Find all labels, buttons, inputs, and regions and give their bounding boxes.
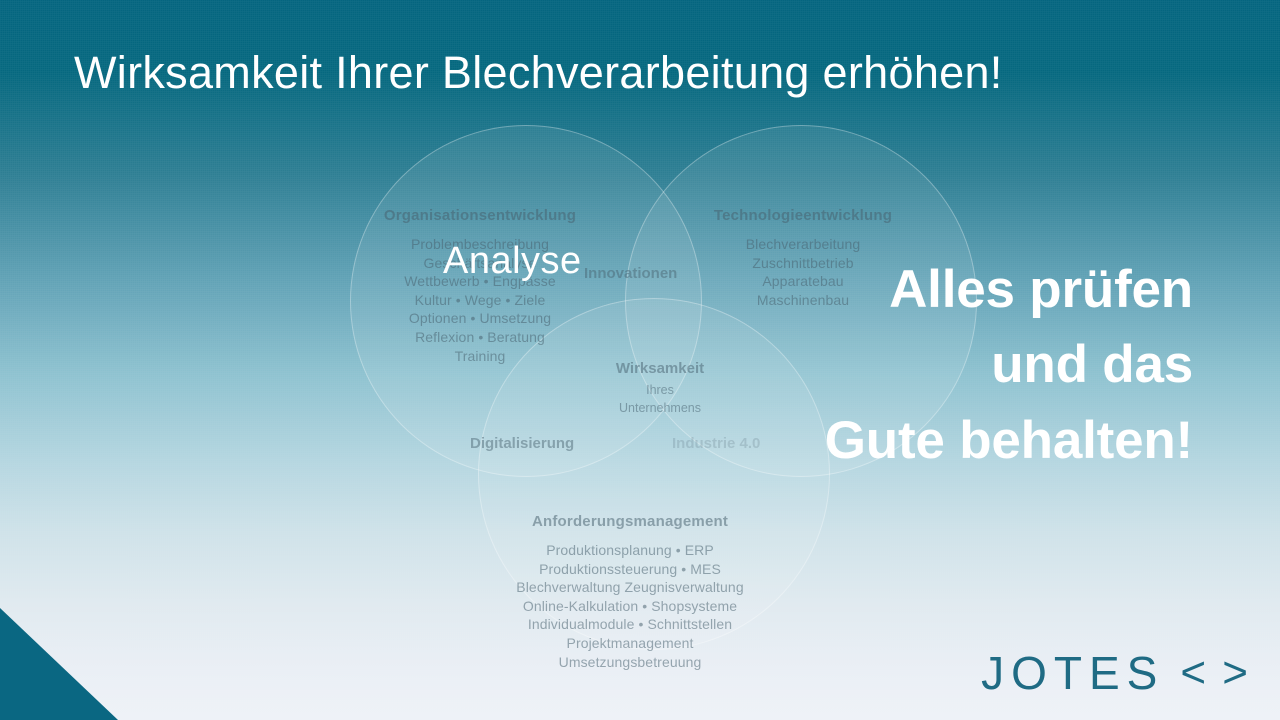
venn-item-org-3: Kultur • Wege • Ziele (330, 291, 630, 310)
venn-heading-anforderungsmanagement: Anforderungsmanagement (450, 512, 810, 532)
venn-item-anf-1: Produktionssteuerung • MES (450, 560, 810, 579)
venn-item-anf-0: Produktionsplanung • ERP (450, 541, 810, 560)
analyse-overlay-label: Analyse (443, 240, 582, 283)
venn-group-anforderungsmanagement: Anforderungsmanagement Produktionsplanun… (450, 512, 810, 671)
headline-line-1: Alles prüfen (673, 252, 1193, 327)
venn-item-anf-2: Blechverwaltung Zeugnisverwaltung (450, 578, 810, 597)
venn-group-organisationsentwicklung: Organisationsentwicklung Problembeschrei… (330, 206, 630, 365)
slide-canvas: Organisationsentwicklung Problembeschrei… (0, 0, 1280, 720)
logo-wordmark: JOTES (981, 650, 1164, 696)
venn-item-anf-4: Individualmodule • Schnittstellen (450, 615, 810, 634)
venn-item-org-4: Optionen • Umsetzung (330, 309, 630, 328)
venn-item-org-5: Reflexion • Beratung (330, 328, 630, 347)
page-title: Wirksamkeit Ihrer Blechverarbeitung erhö… (74, 48, 1003, 98)
code-brackets-icon: < > (1180, 651, 1250, 695)
venn-heading-technologieentwicklung: Technologieentwicklung (655, 206, 951, 226)
venn-item-anf-3: Online-Kalkulation • Shopsysteme (450, 597, 810, 616)
venn-item-anf-5: Projektmanagement (450, 634, 810, 653)
corner-triangle-decoration (0, 608, 118, 720)
headline-line-2: und das (673, 327, 1193, 402)
venn-item-anf-6: Umsetzungsbetreuung (450, 653, 810, 672)
venn-intersection-digitalisierung: Digitalisierung (470, 435, 574, 452)
venn-heading-organisationsentwicklung: Organisationsentwicklung (330, 206, 630, 226)
venn-intersection-innovationen: Innovationen (584, 265, 677, 282)
headline-line-3: Gute behalten! (673, 403, 1193, 478)
jotes-logo: JOTES < > (981, 650, 1250, 696)
venn-item-tech-0: Blechverarbeitung (655, 235, 951, 254)
headline-block: Alles prüfen und das Gute behalten! (673, 252, 1193, 478)
